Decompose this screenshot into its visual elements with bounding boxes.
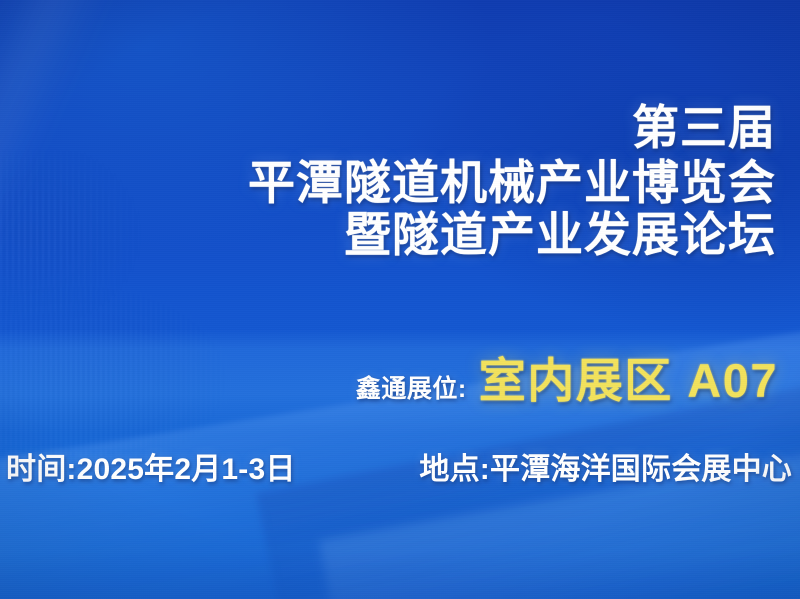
event-details-row: 时间:2025年2月1-3日 地点:平潭海洋国际会展中心 [6,444,792,488]
event-banner: 第三届 平潭隧道机械产业博览会 暨隧道产业发展论坛 鑫通展位: 室内展区 A07… [0,0,800,599]
booth-label: 鑫通展位: [356,369,467,405]
booth-info-row: 鑫通展位: 室内展区 A07 [0,342,778,411]
event-title-block: 第三届 平潭隧道机械产业博览会 暨隧道产业发展论坛 [0,104,776,260]
event-title-line-3: 暨隧道产业发展论坛 [0,211,776,260]
event-time: 时间:2025年2月1-3日 [6,444,296,488]
banner-content: 第三届 平潭隧道机械产业博览会 暨隧道产业发展论坛 鑫通展位: 室内展区 A07… [0,0,800,599]
booth-number: 室内展区 A07 [479,342,778,411]
event-venue: 地点:平潭海洋国际会展中心 [419,444,792,488]
event-title-line-1: 第三届 [0,104,776,153]
event-title-line-2: 平潭隧道机械产业博览会 [0,159,776,208]
